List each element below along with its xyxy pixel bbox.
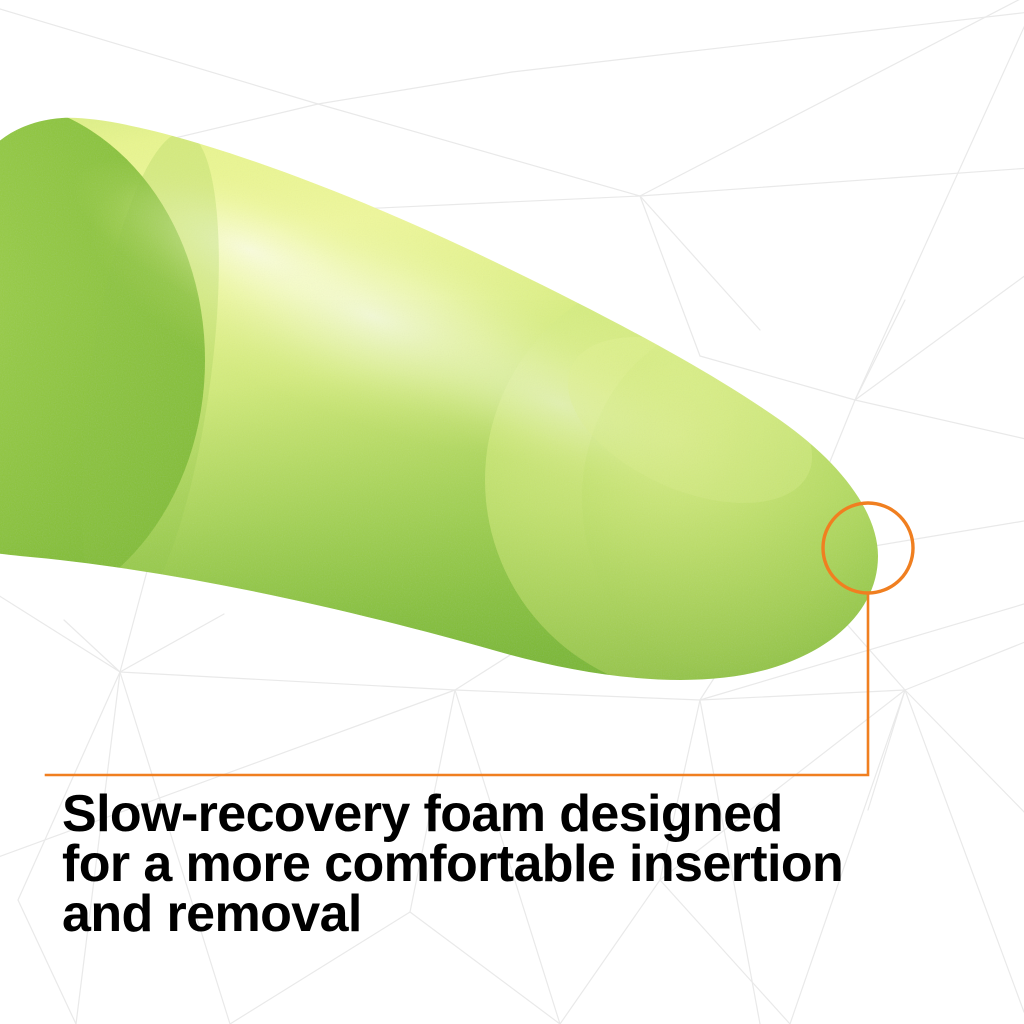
caption-text: Slow-recovery foam designed for a more c… (62, 789, 902, 939)
callout-circle-icon (823, 503, 913, 593)
product-feature-image: Slow-recovery foam designed for a more c… (0, 0, 1024, 1024)
callout-leader-line (46, 593, 868, 775)
